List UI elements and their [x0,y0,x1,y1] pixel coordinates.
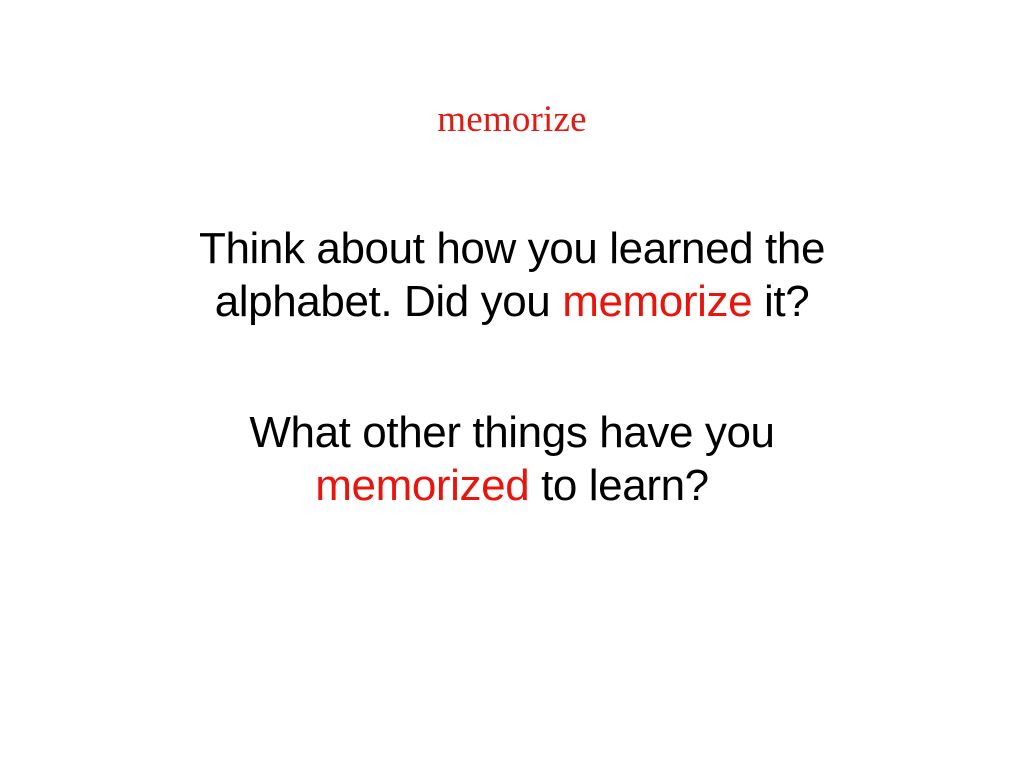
highlighted-word-memorize: memorize [562,277,752,326]
paragraph-two-line-1: What other things have you [0,406,1024,459]
paragraph-one: Think about how you learned the alphabet… [0,222,1024,328]
text-run-plain: Think about how you learned the [199,224,825,273]
text-run-plain: What other things have you [249,408,774,457]
text-run-plain: to learn? [529,461,708,510]
slide-canvas: memorize Think about how you learned the… [0,0,1024,768]
paragraph-two: What other things have you memorized to … [0,406,1024,512]
paragraph-one-line-1: Think about how you learned the [0,222,1024,275]
paragraph-two-line-2: memorized to learn? [0,459,1024,512]
highlighted-word-memorized: memorized [315,461,529,510]
text-run-plain: alphabet. Did you [215,277,563,326]
slide-title: memorize [0,98,1024,142]
paragraph-one-line-2: alphabet. Did you memorize it? [0,275,1024,328]
text-run-plain: it? [752,277,809,326]
